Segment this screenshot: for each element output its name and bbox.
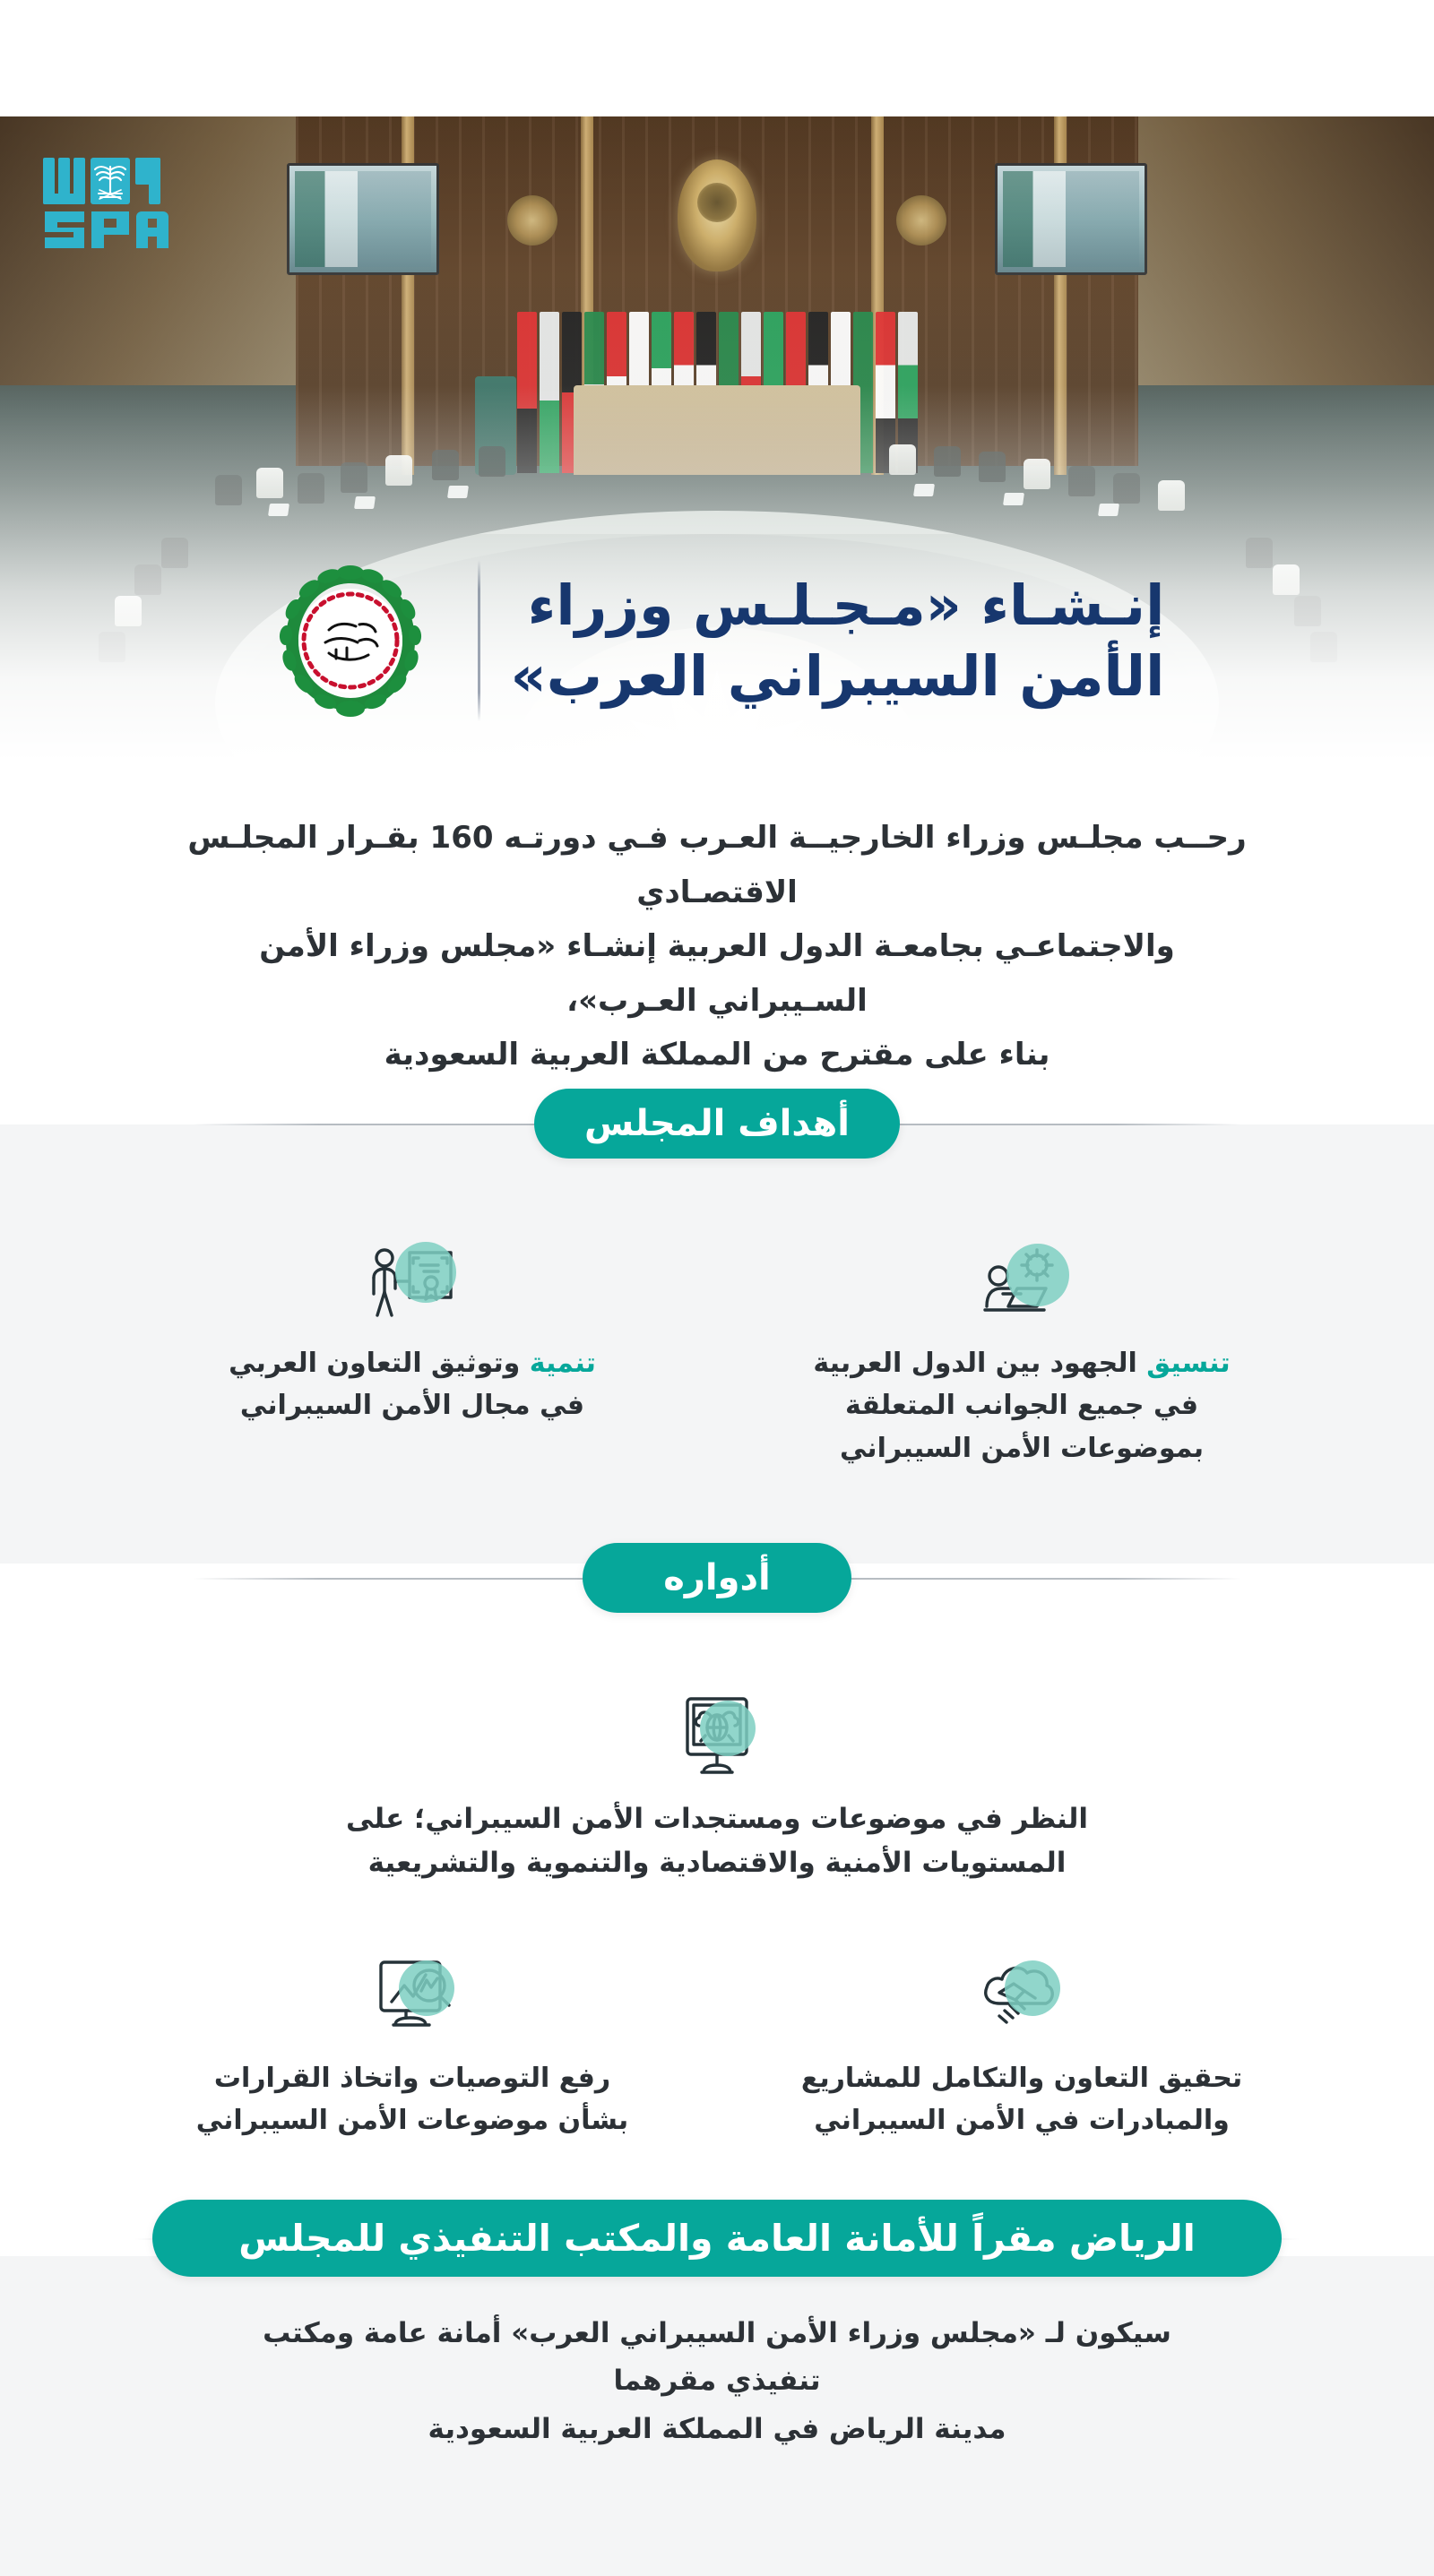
role-line-1: تحقيق التعاون والتكامل للمشاريع (801, 2063, 1242, 2094)
intro-line-1: رحــب مجلـس وزراء الخارجيــة العـرب فـي … (179, 811, 1255, 919)
person-laptop-gear-icon (969, 1238, 1075, 1328)
footer-line-1: سيكون لـ «مجلس وزراء الأمن السيبراني الع… (215, 2310, 1219, 2406)
intro-line-3: بناء على مقترح من المملكة العربية السعود… (179, 1028, 1255, 1082)
monitor-chart-search-icon (359, 1953, 465, 2043)
monitor-globe-cloud-icon (664, 1693, 770, 1783)
objective-line-2: في مجال الأمن السيبراني (240, 1390, 584, 1421)
objective-item-development: تنمية وتوثيق التعاون العربي في مجال الأم… (161, 1238, 663, 1469)
objective-item-coordination-text: تنسيق الجهود بين الدول العربية في جميع ا… (813, 1342, 1230, 1469)
objective-highlight: تنسيق (1146, 1348, 1230, 1379)
intro-paragraph: رحــب مجلـس وزراء الخارجيــة العـرب فـي … (179, 811, 1255, 1082)
roles-grid: تحقيق التعاون والتكامل للمشاريع والمبادر… (161, 1953, 1273, 2142)
footer-pill-row: الرياض مقراً للأمانة العامة والمكتب التن… (0, 2200, 1434, 2277)
arab-league-emblem-icon (270, 560, 431, 721)
page-title-line-2: الأمن السيبراني العرب» (511, 641, 1165, 711)
role-line-2: المستويات الأمنية والاقتصادية والتنموية … (368, 1847, 1067, 1879)
footer-paragraph: سيكون لـ «مجلس وزراء الأمن السيبراني الع… (215, 2310, 1219, 2453)
objectives-grid: تنسيق الجهود بين الدول العربية في جميع ا… (161, 1238, 1273, 1469)
section-pill-roles-label: أدواره (663, 1557, 770, 1598)
objective-line-3: بموضوعات الأمن السيبراني (840, 1433, 1204, 1464)
section-pill-objectives-label: أهداف المجلس (584, 1103, 850, 1144)
title-divider (478, 560, 480, 721)
section-pill-roles[interactable]: أدواره (583, 1543, 851, 1613)
role-item-review-text: النظر في موضوعات ومستجدات الأمن السيبران… (346, 1797, 1088, 1885)
objective-rest: وتوثيق التعاون العربي (229, 1348, 530, 1379)
role-item-review: النظر في موضوعات ومستجدات الأمن السيبران… (287, 1693, 1147, 1885)
objective-line-2: في جميع الجوانب المتعلقة (845, 1390, 1198, 1421)
title-block: إنـشـاء «مـجـلـس وزراء الأمن السيبراني ا… (0, 560, 1434, 721)
objective-item-development-text: تنمية وتوثيق التعاون العربي في مجال الأم… (229, 1342, 596, 1427)
role-line-1: رفع التوصيات واتخاذ القرارات (214, 2063, 610, 2094)
roles-pill-row: أدواره (0, 1543, 1434, 1613)
intro-line-2: والاجتماعـي بجامعـة الدول العربية إنشـاء… (179, 919, 1255, 1028)
footer-line-2: مدينة الرياض في المملكة العربية السعودية (215, 2406, 1219, 2453)
person-certificate-icon (359, 1238, 465, 1328)
objectives-pill-row: أهداف المجلس (0, 1089, 1434, 1159)
objective-rest: الجهود بين الدول العربية (813, 1348, 1146, 1379)
infographic-page: إنـشـاء «مـجـلـس وزراء الأمن السيبراني ا… (0, 0, 1434, 2576)
role-item-cooperation: تحقيق التعاون والتكامل للمشاريع والمبادر… (771, 1953, 1273, 2142)
section-pill-objectives[interactable]: أهداف المجلس (534, 1089, 900, 1159)
role-line-2: والمبادرات في الأمن السيبراني (814, 2105, 1230, 2136)
top-white-margin (0, 0, 1434, 116)
role-item-recommendations: رفع التوصيات واتخاذ القرارات بشأن موضوعا… (161, 1953, 663, 2142)
role-item-cooperation-text: تحقيق التعاون والتكامل للمشاريع والمبادر… (801, 2057, 1242, 2142)
footer-pill-label: الرياض مقراً للأمانة العامة والمكتب التن… (238, 2217, 1195, 2260)
role-line-1: النظر في موضوعات ومستجدات الأمن السيبران… (346, 1803, 1088, 1835)
footer-pill-headquarters[interactable]: الرياض مقراً للأمانة العامة والمكتب التن… (152, 2200, 1282, 2277)
role-item-recommendations-text: رفع التوصيات واتخاذ القرارات بشأن موضوعا… (196, 2057, 628, 2142)
spa-logo (43, 154, 177, 248)
page-title: إنـشـاء «مـجـلـس وزراء الأمن السيبراني ا… (511, 570, 1165, 712)
objective-highlight: تنمية (530, 1348, 596, 1379)
cloud-handshake-icon (969, 1953, 1075, 2043)
objective-item-coordination: تنسيق الجهود بين الدول العربية في جميع ا… (771, 1238, 1273, 1469)
page-title-line-1: إنـشـاء «مـجـلـس وزراء (511, 570, 1165, 641)
role-line-2: بشأن موضوعات الأمن السيبراني (196, 2105, 628, 2136)
